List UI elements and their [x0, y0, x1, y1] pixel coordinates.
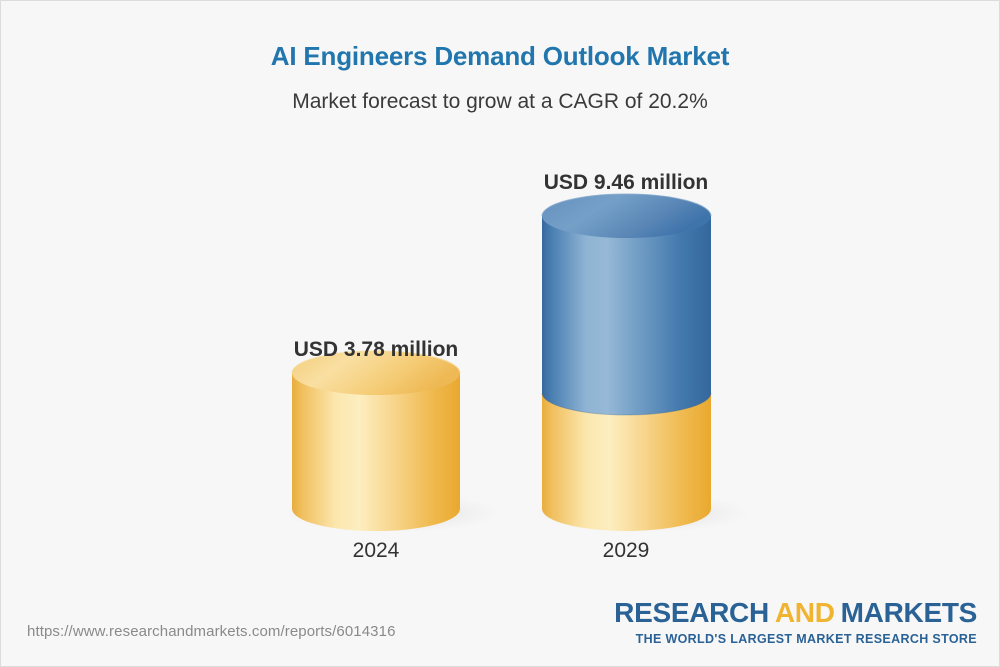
plot-area: USD 3.78 million 2024 USD 9.46 million 2… — [1, 1, 1000, 601]
chart-svg: USD 3.78 million 2024 USD 9.46 million 2… — [1, 1, 1000, 601]
brand-word-and: AND — [775, 597, 835, 628]
bar-2024-body — [292, 373, 460, 531]
brand-logo: RESEARCHANDMARKETS THE WORLD'S LARGEST M… — [614, 599, 977, 646]
bar-2024[interactable] — [285, 351, 501, 533]
bar-2029-value-label: USD 9.46 million — [544, 171, 709, 194]
bar-2029[interactable] — [535, 194, 751, 533]
bar-2024-category-label: 2024 — [353, 539, 400, 562]
chart-card: AI Engineers Demand Outlook Market Marke… — [0, 0, 1000, 667]
brand-word-markets: MARKETS — [841, 597, 977, 628]
source-url[interactable]: https://www.researchandmarkets.com/repor… — [27, 623, 396, 640]
brand-tagline: THE WORLD'S LARGEST MARKET RESEARCH STOR… — [614, 633, 977, 646]
bar-2029-growth-segment — [542, 216, 711, 415]
brand-word-research: RESEARCH — [614, 597, 769, 628]
brand-wordmark: RESEARCHANDMARKETS — [614, 599, 977, 627]
bar-2024-value-label: USD 3.78 million — [294, 338, 459, 361]
bar-2029-category-label: 2029 — [603, 539, 650, 562]
